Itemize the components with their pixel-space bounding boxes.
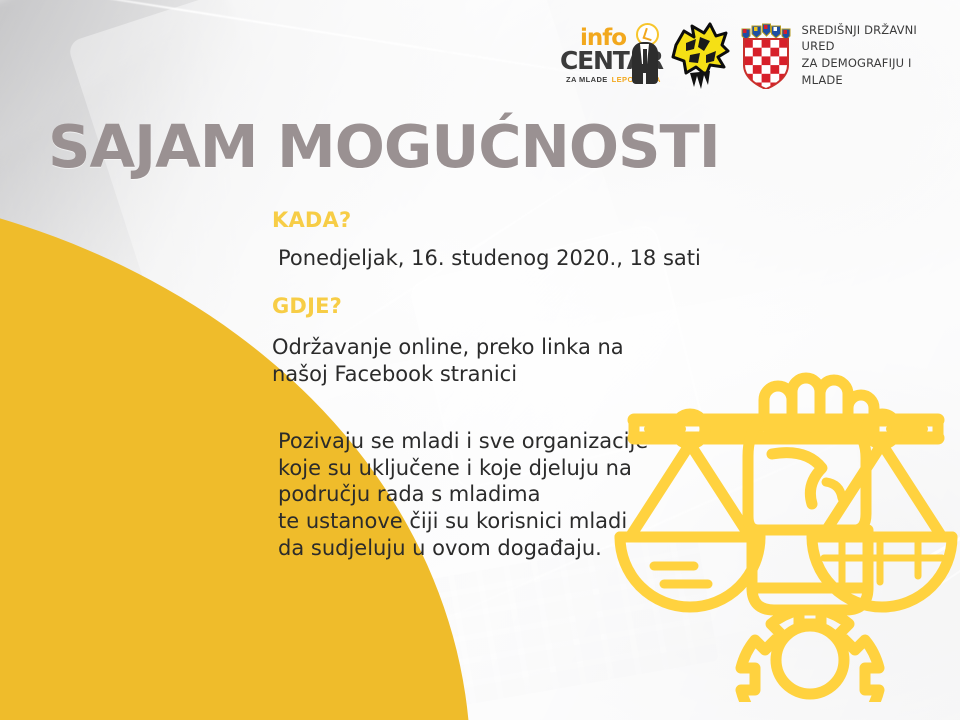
person-tie-icon (643, 49, 647, 64)
graffiti-icon (673, 24, 728, 89)
page-title: SAJAM MOGUĆNOSTI (48, 112, 720, 181)
poster-canvas: info CENTAR ZA MLADELEPOGLAVA (0, 0, 960, 720)
croatian-coat-of-arms-icon (740, 21, 792, 89)
when-label: KADA? (272, 208, 702, 232)
where-label: GDJE? (272, 294, 702, 318)
info-centar-logo-sub-left: ZA MLADE (566, 75, 608, 84)
info-centar-logo: info CENTAR ZA MLADELEPOGLAVA (560, 19, 660, 91)
justice-scales-graphic (620, 378, 952, 702)
scales-fist-gear-icon (612, 362, 960, 702)
logo-row: info CENTAR ZA MLADELEPOGLAVA (560, 14, 950, 96)
lightbulb-person-icon (630, 23, 660, 85)
graffiti-youth-logo (670, 19, 730, 91)
when-value: Ponedjeljak, 16. studenog 2020., 18 sati (272, 245, 702, 272)
government-office-label: SREDIŠNJI DRŽAVNI URED ZA DEMOGRAFIJU I … (802, 22, 951, 89)
person-legs-icon (643, 73, 646, 85)
coat-of-arms (742, 24, 790, 89)
